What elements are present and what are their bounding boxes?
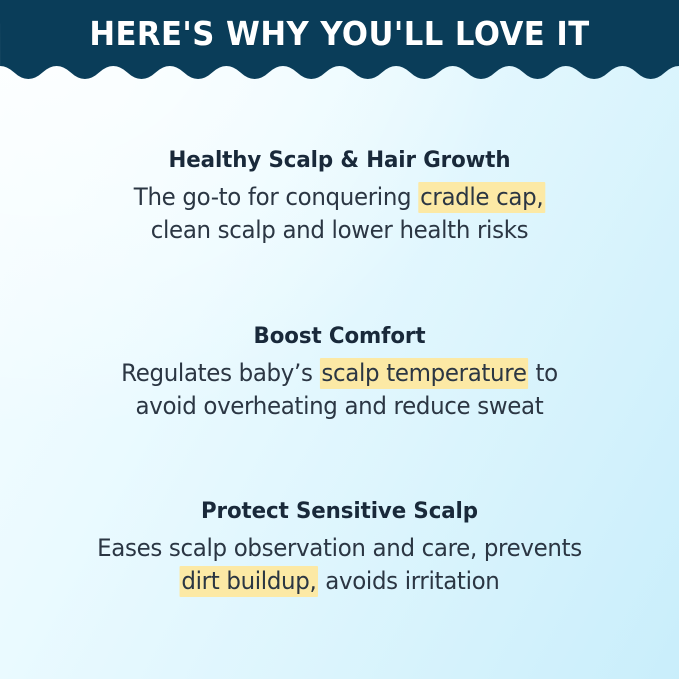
benefit-text-plain: The go-to for conquering [134, 183, 418, 211]
benefits-list: Healthy Scalp & Hair Growth The go-to fo… [0, 81, 679, 679]
benefit-body: The go-to for conquering cradle cap, cle… [15, 181, 663, 247]
benefit-body: Eases scalp observation and care, preven… [15, 532, 663, 598]
benefit-item: Healthy Scalp & Hair Growth The go-to fo… [0, 147, 679, 247]
benefit-text-plain: clean scalp and lower health risks [151, 216, 528, 244]
benefit-body-line: Regulates baby’s scalp temperature to [15, 357, 663, 390]
benefit-text-plain: to [529, 359, 558, 387]
benefit-text-highlight: dirt buildup, [180, 566, 319, 597]
benefit-text-plain: avoid overheating and reduce sweat [136, 392, 544, 420]
benefit-heading: Protect Sensitive Scalp [10, 498, 669, 526]
header-banner: HERE'S WHY YOU'LL LOVE IT [0, 0, 679, 81]
benefit-body-line: avoid overheating and reduce sweat [15, 390, 663, 423]
benefit-body: Regulates baby’s scalp temperature to av… [15, 357, 663, 423]
benefit-heading: Boost Comfort [10, 323, 669, 351]
benefit-text-plain: Eases scalp observation and care, preven… [97, 534, 582, 562]
benefit-heading: Healthy Scalp & Hair Growth [10, 147, 669, 175]
benefit-text-highlight: cradle cap, [418, 182, 545, 213]
benefit-item: Protect Sensitive Scalp Eases scalp obse… [0, 498, 679, 598]
benefit-item: Boost Comfort Regulates baby’s scalp tem… [0, 323, 679, 423]
benefit-body-line: dirt buildup, avoids irritation [15, 565, 663, 598]
poster-title: HERE'S WHY YOU'LL LOVE IT [24, 0, 655, 66]
benefit-text-highlight: scalp temperature [320, 358, 529, 389]
benefit-body-line: clean scalp and lower health risks [15, 214, 663, 247]
benefit-body-line: Eases scalp observation and care, preven… [15, 532, 663, 565]
benefit-text-plain: Regulates baby’s [121, 359, 319, 387]
benefit-body-line: The go-to for conquering cradle cap, [15, 181, 663, 214]
benefit-text-plain: avoids irritation [318, 567, 499, 595]
promo-poster: HERE'S WHY YOU'LL LOVE IT Healthy Scalp … [0, 0, 679, 679]
